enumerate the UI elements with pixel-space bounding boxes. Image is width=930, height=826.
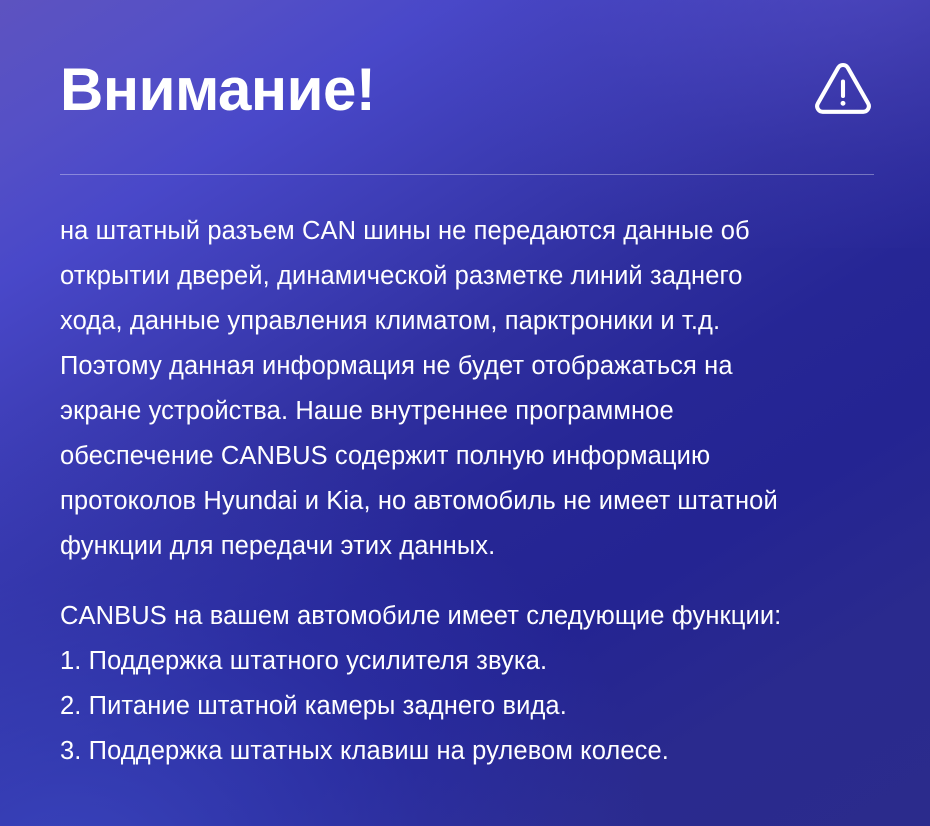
- paragraph-line: протоколов Hyundai и Kia, но автомобиль …: [60, 479, 876, 524]
- paragraph-line: хода, данные управления климатом, парктр…: [60, 299, 876, 344]
- paragraph-line: функции для передачи этих данных.: [60, 524, 876, 569]
- paragraph-canbus-features: CANBUS на вашем автомобиле имеет следующ…: [60, 594, 876, 774]
- warning-banner: Внимание! на штатный разъем CAN шины не …: [0, 0, 930, 826]
- banner-header: Внимание!: [58, 0, 872, 174]
- paragraph-line: открытии дверей, динамической разметке л…: [60, 254, 876, 299]
- banner-body: на штатный разъем CAN шины не передаются…: [60, 209, 876, 774]
- header-divider: [60, 174, 874, 175]
- paragraph-line: экране устройства. Наше внутреннее прогр…: [60, 389, 876, 434]
- paragraph-line: на штатный разъем CAN шины не передаются…: [60, 209, 876, 254]
- paragraph-line: Поэтому данная информация не будет отобр…: [60, 344, 876, 389]
- page-title: Внимание!: [60, 60, 375, 120]
- banner-content: Внимание! на штатный разъем CAN шины не …: [0, 0, 930, 774]
- list-item: 1. Поддержка штатного усилителя звука.: [60, 639, 876, 684]
- list-item: 2. Питание штатной камеры заднего вида.: [60, 684, 876, 729]
- feature-list-intro: CANBUS на вашем автомобиле имеет следующ…: [60, 594, 876, 639]
- list-item: 3. Поддержка штатных клавиш на рулевом к…: [60, 729, 876, 774]
- warning-triangle-icon: [814, 61, 872, 119]
- paragraph-line: обеспечение CANBUS содержит полную инфор…: [60, 434, 876, 479]
- paragraph-can-limitations: на штатный разъем CAN шины не передаются…: [60, 209, 876, 569]
